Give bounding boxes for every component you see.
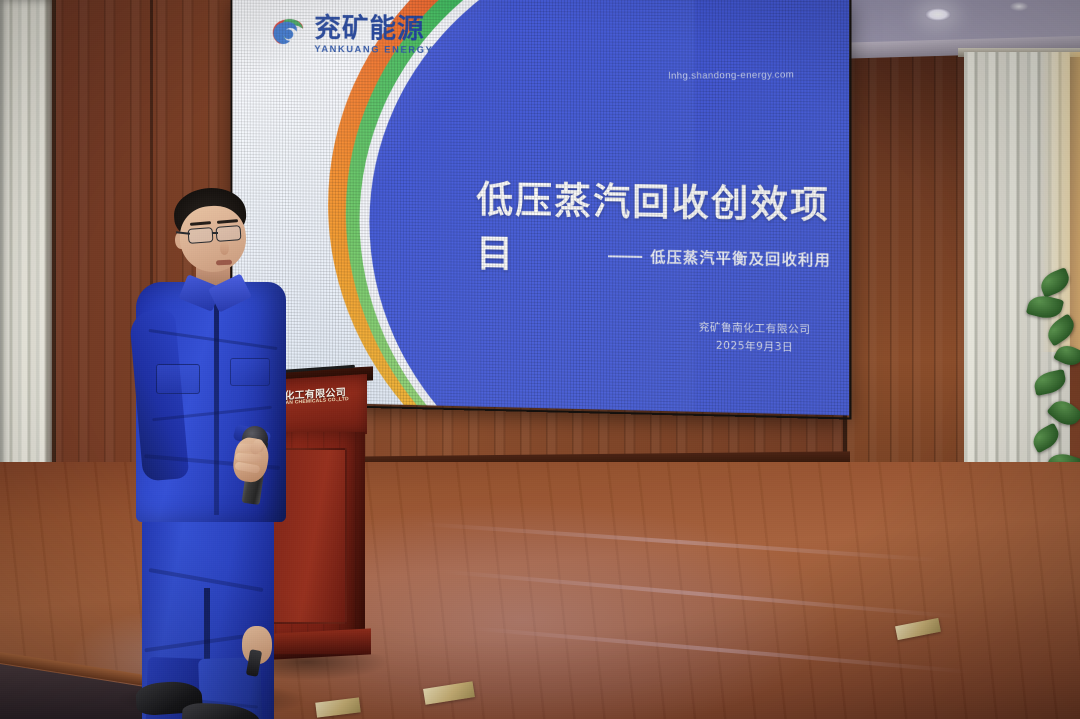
led-presentation-screen[interactable]: 兖矿能源 YANKUANG ENERGY lnhg.shandong-energ…: [232, 0, 849, 415]
slide-url: lnhg.shandong-energy.com: [668, 69, 794, 81]
presentation-photo-scene: 兖矿能源 YANKUANG ENERGY lnhg.shandong-energ…: [0, 0, 1080, 719]
slide-footer-organization: 兖矿鲁南化工有限公司: [699, 319, 811, 339]
ceiling-downlight-icon: [925, 8, 951, 21]
presenter[interactable]: [130, 188, 310, 719]
ceiling-downlight-secondary-icon: [1010, 2, 1028, 11]
yankuang-energy-logo-icon: [267, 14, 307, 55]
slide-logo-company-en: YANKUANG ENERGY: [314, 43, 433, 55]
slide-subtitle: 低压蒸汽平衡及回收利用: [608, 245, 831, 270]
slide-footer: 兖矿鲁南化工有限公司 2025年9月3日: [699, 319, 811, 357]
slide-logo-company-cn: 兖矿能源: [314, 15, 433, 43]
wall-panel-right: [846, 30, 966, 470]
slide: 兖矿能源 YANKUANG ENERGY lnhg.shandong-energ…: [232, 0, 849, 415]
presenter-mouth: [216, 260, 232, 266]
slide-logo: 兖矿能源 YANKUANG ENERGY: [267, 14, 433, 56]
slide-subtitle-text: 低压蒸汽平衡及回收利用: [650, 246, 831, 270]
slide-footer-date: 2025年9月3日: [699, 337, 811, 357]
presenter-nose: [220, 242, 229, 255]
subtitle-rule-icon: [608, 255, 642, 258]
glasses-lens-left-icon: [188, 227, 214, 244]
glasses-lens-right-icon: [216, 225, 242, 242]
glasses-bridge-icon: [212, 232, 218, 234]
jacket-pocket-left: [156, 364, 200, 394]
